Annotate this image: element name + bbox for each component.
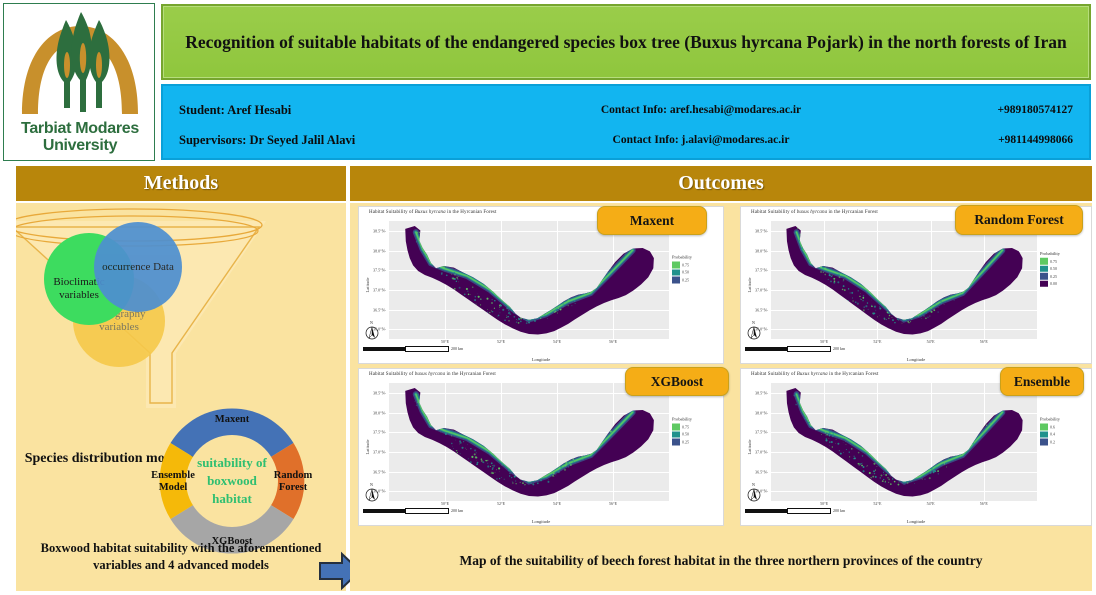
- tarbiat-modares-logo-icon: [4, 8, 156, 120]
- legend-swatch: [672, 262, 680, 269]
- y-tick-label: 38.5°N-: [373, 228, 386, 233]
- legend-title: Probability: [672, 417, 720, 422]
- map-title: Habitat Suitability of Buxus hyrcana in …: [369, 210, 496, 215]
- map-plot-area[interactable]: [771, 221, 1037, 339]
- y-tick-label: 37.5°N-: [373, 430, 386, 435]
- x-tick-label: 54°E: [927, 339, 935, 344]
- x-tick-label: 50°E: [820, 501, 828, 506]
- y-tick-label: 37.0°N-: [755, 287, 768, 292]
- habitat-suitability-raster: [389, 383, 669, 501]
- legend-swatch: [672, 277, 680, 284]
- legend-title: Probability: [1040, 417, 1088, 422]
- legend-value: 0.00: [1050, 281, 1057, 286]
- legend-row: 0.75: [672, 423, 720, 430]
- methods-title: Methods: [144, 172, 218, 195]
- y-tick-label: 36.0°N-: [373, 489, 386, 494]
- map-title: Habitat Suitability of buxus hyrcana in …: [369, 372, 496, 377]
- legend-swatch: [1040, 431, 1048, 438]
- y-tick-label: 37.0°N-: [373, 287, 386, 292]
- legend-swatch: [1040, 424, 1048, 431]
- y-tick-label: 37.0°N-: [373, 449, 386, 454]
- y-tick-label: 37.5°N-: [373, 268, 386, 273]
- badge-random-forest[interactable]: Random Forest: [955, 205, 1083, 235]
- x-tick-label: 54°E: [553, 339, 561, 344]
- venn-circle-occurrence: occurrence Data: [94, 222, 182, 312]
- y-axis-ticks: 38.5°N-38.0°N-37.5°N-37.0°N-36.5°N-36.0°…: [741, 221, 770, 339]
- y-tick-label: 36.0°N-: [755, 489, 768, 494]
- badge-xgboost[interactable]: XGBoost: [625, 367, 729, 396]
- donut-center-label: suitability of boxwood habitat: [186, 435, 278, 527]
- y-tick-label: 36.5°N-: [755, 307, 768, 312]
- x-tick-label: 56°E: [980, 339, 988, 344]
- map-legend: Probability0.750.500.250.00: [1040, 251, 1088, 288]
- y-tick-label: 36.0°N-: [373, 327, 386, 332]
- x-tick-label: 52°E: [873, 501, 881, 506]
- legend-row: 0.75: [672, 261, 720, 268]
- y-tick-label: 38.0°N-: [373, 248, 386, 253]
- x-axis-label: Longitude: [741, 357, 1091, 362]
- poster-root: Tarbiat Modares University Recognition o…: [0, 0, 1096, 595]
- models-donut-chart: Maxent Random Forest XGBoost Ensemble Mo…: [152, 401, 312, 561]
- habitat-suitability-raster: [771, 221, 1037, 339]
- scale-bar-segment: [745, 347, 787, 351]
- y-axis-ticks: 38.5°N-38.0°N-37.5°N-37.0°N-36.5°N-36.0°…: [741, 383, 770, 501]
- y-tick-label: 36.5°N-: [755, 469, 768, 474]
- university-name: Tarbiat Modares University: [4, 120, 156, 154]
- supervisor-phone: +981144998066: [923, 134, 1073, 146]
- legend-row: 0.50: [672, 431, 720, 438]
- x-axis-ticks: 50°E52°E54°E56°E: [389, 339, 669, 347]
- x-tick-label: 50°E: [820, 339, 828, 344]
- y-tick-label: 37.5°N-: [755, 430, 768, 435]
- donut-segment-random-forest[interactable]: Random Forest: [276, 463, 310, 501]
- legend-row: 0.2: [1040, 438, 1088, 445]
- donut-segment-maxent[interactable]: Maxent: [196, 407, 268, 433]
- legend-row: 0.25: [1040, 273, 1088, 280]
- legend-swatch: [672, 424, 680, 431]
- x-axis-label: Longitude: [741, 519, 1091, 524]
- x-tick-label: 56°E: [609, 339, 617, 344]
- x-axis-ticks: 50°E52°E54°E56°E: [771, 339, 1037, 347]
- legend-title: Probability: [1040, 251, 1088, 256]
- legend-value: 0.75: [682, 424, 689, 429]
- legend-value: 0.6: [1050, 424, 1055, 429]
- y-axis-ticks: 38.5°N-38.0°N-37.5°N-37.0°N-36.5°N-36.0°…: [359, 221, 388, 339]
- page-title: Recognition of suitable habitats of the …: [185, 30, 1066, 54]
- badge-ensemble[interactable]: Ensemble: [1000, 367, 1084, 396]
- legend-value: 0.75: [1050, 259, 1057, 264]
- map-plot-area[interactable]: [771, 383, 1037, 501]
- map-title: Habitat Suitability of Buxus hyrcana in …: [751, 372, 878, 377]
- y-tick-label: 36.5°N-: [373, 307, 386, 312]
- legend-row: 0.25: [672, 276, 720, 283]
- x-tick-label: 50°E: [441, 501, 449, 506]
- map-title: Habitat Suitability of buxus hyrcana in …: [751, 210, 878, 215]
- methods-caption: Boxwood habitat suitability with the afo…: [26, 540, 336, 574]
- outcomes-caption: Map of the suitability of beech forest h…: [360, 553, 1082, 569]
- map-legend: Probability0.60.40.2: [1040, 417, 1088, 446]
- x-tick-label: 56°E: [980, 501, 988, 506]
- scale-bar-segment: [363, 509, 405, 513]
- legend-swatch: [672, 269, 680, 276]
- x-axis-label: Longitude: [359, 519, 723, 524]
- badge-maxent[interactable]: Maxent: [597, 206, 707, 235]
- university-logo-box: Tarbiat Modares University: [3, 3, 155, 161]
- map-plot-area[interactable]: [389, 383, 669, 501]
- scale-bar-segment: [363, 347, 405, 351]
- x-axis-label: Longitude: [359, 357, 723, 362]
- legend-row: 0.50: [1040, 265, 1088, 272]
- outcomes-title: Outcomes: [678, 172, 764, 195]
- x-tick-label: 52°E: [497, 501, 505, 506]
- legend-row: 0.25: [672, 438, 720, 445]
- x-axis-ticks: 50°E52°E54°E56°E: [771, 501, 1037, 509]
- legend-row: 0.75: [1040, 258, 1088, 265]
- y-tick-label: 38.5°N-: [755, 390, 768, 395]
- legend-value: 0.25: [682, 277, 689, 282]
- y-tick-label: 38.5°N-: [755, 228, 768, 233]
- supervisor-name: Supervisors: Dr Seyed Jalil Alavi: [179, 133, 479, 148]
- y-tick-label: 38.0°N-: [373, 410, 386, 415]
- y-tick-label: 36.5°N-: [373, 469, 386, 474]
- map-plot-area[interactable]: [389, 221, 669, 339]
- legend-swatch: [672, 439, 680, 446]
- student-contact: Contact Info: aref.hesabi@modares.ac.ir: [479, 104, 923, 116]
- y-tick-label: 37.5°N-: [755, 268, 768, 273]
- habitat-suitability-raster: [389, 221, 669, 339]
- y-tick-label: 38.0°N-: [755, 248, 768, 253]
- legend-value: 0.25: [682, 439, 689, 444]
- x-tick-label: 54°E: [927, 501, 935, 506]
- scale-bar-segment: [745, 509, 787, 513]
- legend-swatch: [1040, 439, 1048, 446]
- legend-swatch: [1040, 258, 1048, 265]
- x-tick-label: 50°E: [441, 339, 449, 344]
- legend-value: 0.2: [1050, 439, 1055, 444]
- legend-swatch: [1040, 280, 1048, 287]
- y-tick-label: 38.5°N-: [373, 390, 386, 395]
- x-tick-label: 54°E: [553, 501, 561, 506]
- funnel-diagram: Topography variables Bioclimatic variabl…: [16, 203, 346, 413]
- author-info-bar: Student: Aref Hesabi Contact Info: aref.…: [161, 84, 1091, 160]
- y-tick-label: 36.0°N-: [755, 327, 768, 332]
- legend-row: 0.6: [1040, 423, 1088, 430]
- x-tick-label: 56°E: [609, 501, 617, 506]
- student-name: Student: Aref Hesabi: [179, 103, 479, 118]
- map-legend: Probability0.750.500.25: [672, 417, 720, 446]
- map-legend: Probability0.750.500.25: [672, 255, 720, 284]
- supervisor-contact: Contact Info: j.alavi@modares.ac.ir: [479, 134, 923, 146]
- legend-row: 0.00: [1040, 280, 1088, 287]
- author-row: Student: Aref Hesabi Contact Info: aref.…: [179, 95, 1073, 125]
- author-row: Supervisors: Dr Seyed Jalil Alavi Contac…: [179, 125, 1073, 155]
- legend-swatch: [1040, 265, 1048, 272]
- legend-row: 0.4: [1040, 431, 1088, 438]
- methods-panel: Topography variables Bioclimatic variabl…: [16, 203, 346, 591]
- legend-value: 0.25: [1050, 274, 1057, 279]
- poster-title-bar: Recognition of suitable habitats of the …: [161, 4, 1091, 80]
- legend-value: 0.50: [1050, 266, 1057, 271]
- y-tick-label: 37.0°N-: [755, 449, 768, 454]
- habitat-suitability-raster: [771, 383, 1037, 501]
- legend-value: 0.75: [682, 262, 689, 267]
- outcomes-section-header: Outcomes: [350, 166, 1092, 201]
- x-tick-label: 52°E: [873, 339, 881, 344]
- legend-swatch: [672, 431, 680, 438]
- legend-value: 0.50: [682, 270, 689, 275]
- legend-title: Probability: [672, 255, 720, 260]
- student-phone: +989180574127: [923, 104, 1073, 116]
- x-axis-ticks: 50°E52°E54°E56°E: [389, 501, 669, 509]
- legend-swatch: [1040, 273, 1048, 280]
- methods-section-header: Methods: [16, 166, 346, 201]
- legend-value: 0.50: [682, 432, 689, 437]
- y-tick-label: 38.0°N-: [755, 410, 768, 415]
- y-axis-ticks: 38.5°N-38.0°N-37.5°N-37.0°N-36.5°N-36.0°…: [359, 383, 388, 501]
- legend-row: 0.50: [672, 269, 720, 276]
- x-tick-label: 52°E: [497, 339, 505, 344]
- legend-value: 0.4: [1050, 432, 1055, 437]
